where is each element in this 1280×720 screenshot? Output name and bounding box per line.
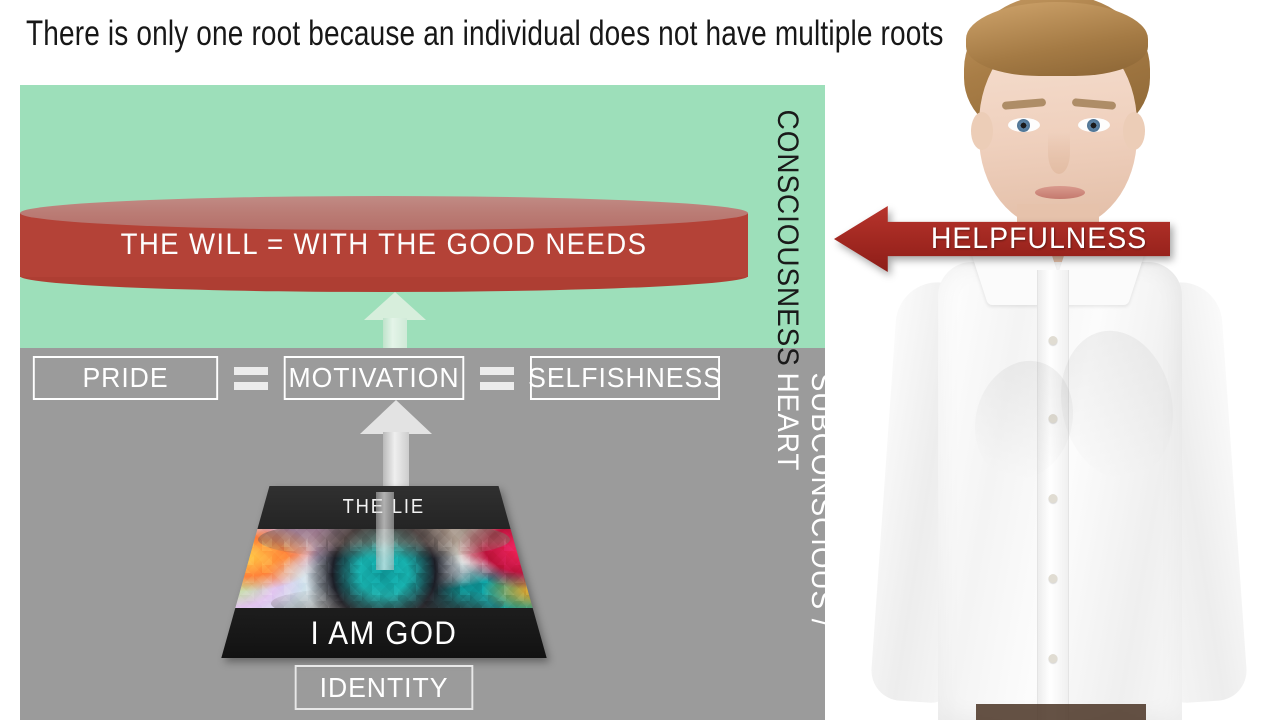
shirt-button [1049, 654, 1058, 663]
the-will-label: THE WILL = WITH THE GOOD NEEDS [49, 213, 719, 277]
slide-canvas: There is only one root because an indivi… [0, 0, 1280, 720]
pride-box: PRIDE [33, 356, 218, 400]
equals-sign-2-icon [469, 367, 525, 390]
arrow-up-to-motivation-icon [360, 400, 432, 492]
arrow-up-to-will-icon [364, 292, 426, 348]
iris-right [1087, 119, 1100, 132]
ear-left [971, 112, 993, 150]
shirt-button [1049, 336, 1058, 345]
arrow-shaft [383, 432, 409, 492]
arrow-shaft [376, 492, 394, 570]
arrow-through-pyramid-icon [368, 492, 402, 570]
arrow-shaft [383, 318, 407, 348]
helpfulness-label: HELPFULNESS [924, 206, 1154, 272]
equals-sign-1-icon [223, 367, 279, 390]
person-photo [826, 0, 1280, 720]
belt [976, 704, 1146, 720]
i-am-god-label: I AM GOD [311, 615, 458, 652]
page-title: There is only one root because an indivi… [26, 12, 994, 56]
helpfulness-arrow: HELPFULNESS [834, 206, 1170, 272]
nose [1048, 132, 1070, 174]
ear-right [1123, 112, 1145, 150]
identity-box: IDENTITY [295, 665, 474, 710]
i-am-god-band: I AM GOD [218, 608, 550, 658]
iris-left [1017, 119, 1030, 132]
motivation-equation-row: PRIDE MOTIVATION SELFISHNESS [28, 356, 725, 400]
eye-left [1008, 118, 1040, 132]
conscious-band-label: CONSCIOUSNESS [770, 110, 804, 367]
selfishness-box: SELFISHNESS [530, 356, 720, 400]
arrow-head [360, 400, 432, 434]
motivation-box: MOTIVATION [284, 356, 465, 400]
arrow-head [364, 292, 426, 320]
eye-right [1078, 118, 1110, 132]
shirt-button [1049, 494, 1058, 503]
the-will-cylinder: THE WILL = WITH THE GOOD NEEDS [20, 196, 748, 286]
shirt-button [1049, 574, 1058, 583]
mouth [1035, 186, 1085, 199]
